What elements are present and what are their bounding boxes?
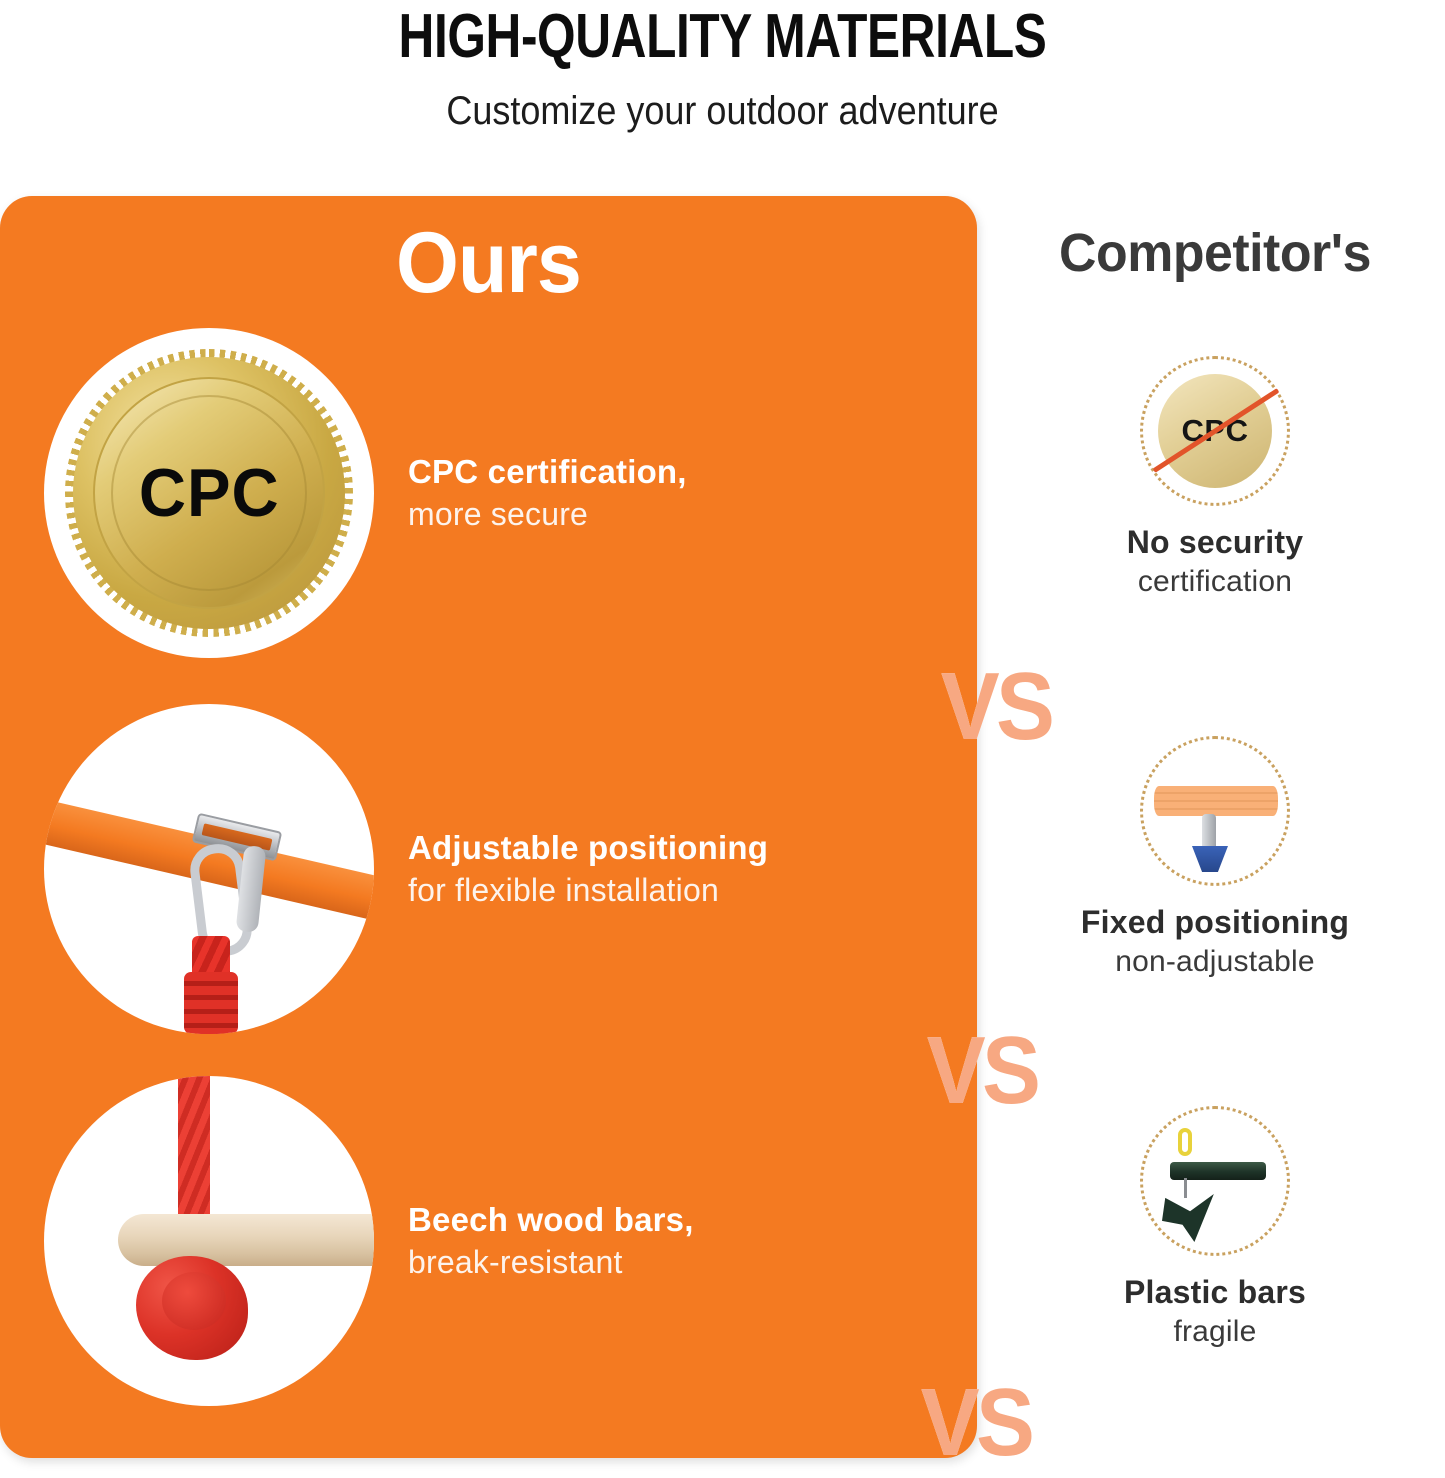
page-title: HIGH-QUALITY MATERIALS	[145, 4, 1301, 69]
competitor-headline: Plastic bars	[985, 1274, 1445, 1311]
plastic-bar-icon	[1140, 1106, 1290, 1256]
vs-badge-3: VS	[921, 1368, 1031, 1478]
page-header: HIGH-QUALITY MATERIALS Customize your ou…	[0, 0, 1445, 134]
cpc-badge-label: CPC	[139, 454, 280, 532]
strap-carabiner-icon	[44, 704, 374, 1034]
competitor-item-no-certification: CPC No security certification	[985, 356, 1445, 599]
vs-badge-2: VS	[927, 1016, 1037, 1126]
feature-headline: Beech wood bars,	[408, 1199, 694, 1241]
competitor-heading: Competitor's	[994, 222, 1436, 284]
vs-badge-1: VS	[941, 652, 1051, 762]
competitor-subline: non-adjustable	[985, 945, 1445, 979]
feature-subline: more secure	[408, 494, 687, 535]
feature-headline: CPC certification,	[408, 451, 687, 493]
competitor-item-plastic-bars: Plastic bars fragile	[985, 1106, 1445, 1349]
rope-grip-shape	[184, 972, 238, 1034]
page-subtitle: Customize your outdoor adventure	[72, 89, 1373, 134]
comparison-area: Ours CPC CPC certification, more secure	[0, 196, 1445, 1475]
feature-text-block: Beech wood bars, break-resistant	[408, 1199, 694, 1282]
beech-wood-bar-icon	[44, 1076, 374, 1406]
ours-panel: Ours CPC CPC certification, more secure	[0, 196, 977, 1458]
red-rope-shape	[178, 1076, 210, 1230]
gold-medal-shape: CPC	[73, 357, 345, 629]
competitor-item-fixed-positioning: Fixed positioning non-adjustable	[985, 736, 1445, 979]
feature-headline: Adjustable positioning	[408, 827, 768, 869]
cpc-gold-badge-icon: CPC	[44, 328, 374, 658]
ours-feature-positioning: Adjustable positioning for flexible inst…	[44, 704, 964, 1034]
dotted-ring-decoration	[1140, 1106, 1290, 1256]
beech-bar-shape	[118, 1214, 374, 1266]
competitor-subline: certification	[985, 565, 1445, 599]
ours-feature-wood-bars: Beech wood bars, break-resistant	[44, 1076, 964, 1406]
cpc-badge-crossed-out-icon: CPC	[1140, 356, 1290, 506]
wood-bar-scene	[44, 1076, 374, 1406]
rope-knot-highlight	[162, 1272, 226, 1330]
ours-heading: Ours	[29, 214, 947, 313]
competitor-column: Competitor's CPC No security certificati…	[985, 196, 1445, 1458]
competitor-headline: No security	[985, 524, 1445, 561]
medal-face: CPC	[93, 377, 325, 609]
feature-subline: break-resistant	[408, 1242, 694, 1283]
feature-text-block: CPC certification, more secure	[408, 451, 687, 534]
ours-feature-cpc: CPC CPC certification, more secure	[44, 328, 964, 658]
fixed-strap-clip-icon	[1140, 736, 1290, 886]
dotted-ring-decoration	[1140, 736, 1290, 886]
feature-text-block: Adjustable positioning for flexible inst…	[408, 827, 768, 910]
competitor-subline: fragile	[985, 1315, 1445, 1349]
feature-subline: for flexible installation	[408, 870, 768, 911]
strap-scene	[44, 704, 374, 1034]
competitor-headline: Fixed positioning	[985, 904, 1445, 941]
